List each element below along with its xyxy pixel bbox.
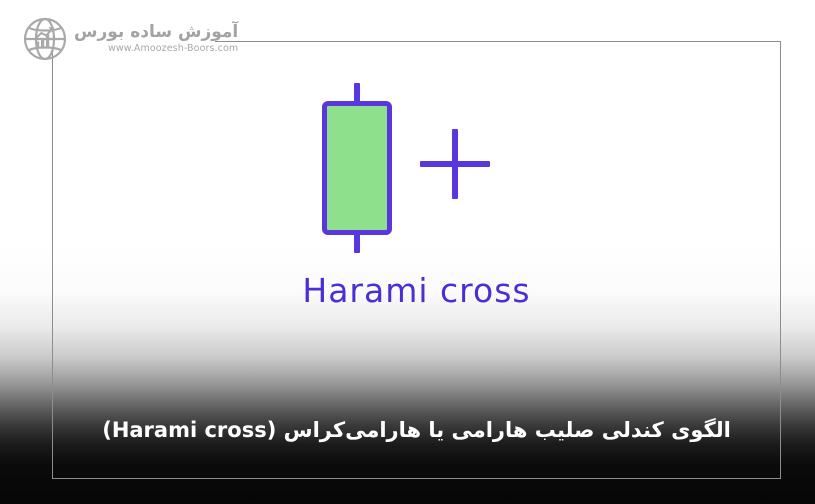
brand-name-fa: آموزش ساده بورس <box>74 24 238 41</box>
slide-canvas: آموزش ساده بورس www.Amoozesh-Boors.com H… <box>0 0 815 504</box>
doji-cross <box>420 129 490 199</box>
candle-body <box>322 101 392 235</box>
caption-text: الگوی کندلی صلیب هارامی یا هارامی‌کراس (… <box>52 404 781 456</box>
bullish-candle <box>322 83 392 253</box>
doji-horizontal-line <box>420 161 490 167</box>
pattern-illustration: Harami cross <box>52 41 781 341</box>
pattern-label: Harami cross <box>52 271 781 310</box>
